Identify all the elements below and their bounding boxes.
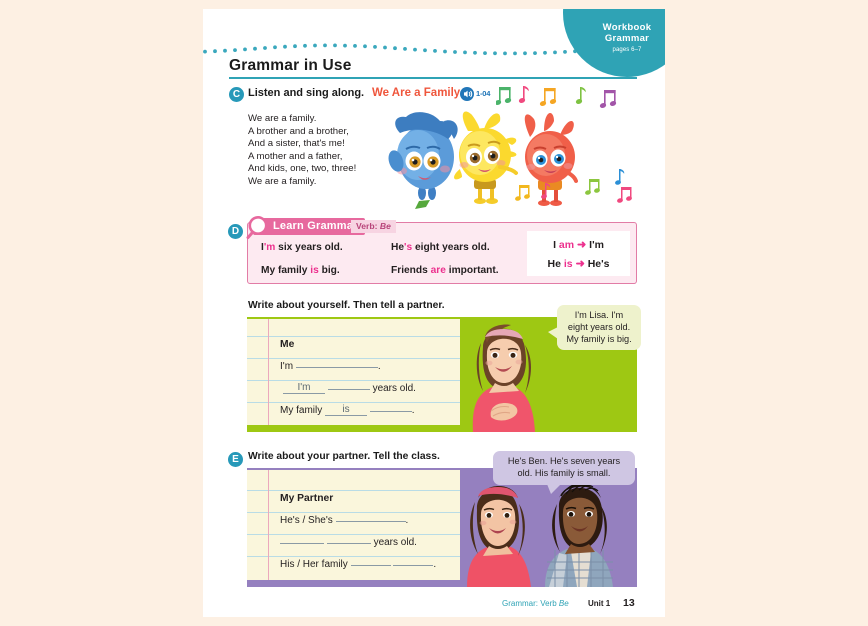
c2-arrow: ➜ <box>576 258 585 270</box>
ex3-pre: He <box>391 242 404 253</box>
notebook-d-heading: Me <box>280 339 294 350</box>
footer-label-italic: Be <box>559 599 569 608</box>
workbook-corner-tab-text: Workbook Grammar pages 6–7 <box>591 23 663 54</box>
nb-d-rule-4 <box>247 402 460 403</box>
nb-d-l3-post: . <box>412 405 415 416</box>
magnifier-icon <box>245 214 271 240</box>
notebook-d-line-1: I'm . <box>280 361 381 372</box>
nb-e-l2-blank-2[interactable] <box>327 543 371 544</box>
nb-e-rule-1 <box>247 490 460 491</box>
purple-beamed-note <box>599 90 617 109</box>
footer-unit: Unit 1 <box>588 599 610 608</box>
c1-verb: am <box>559 239 574 251</box>
audio-track-number: 1-04 <box>476 89 490 98</box>
nb-d-margin-line <box>268 319 269 425</box>
green-quarter-note <box>575 87 586 105</box>
nb-e-l2-post: years old. <box>374 537 417 548</box>
page-title-rule <box>229 77 637 79</box>
notebook-e: My Partner He's / She's . years old. His… <box>247 470 460 580</box>
nb-d-l2-post: years old. <box>373 383 416 394</box>
ex3-post: eight years old. <box>412 242 490 253</box>
c1-arrow: ➜ <box>577 239 586 251</box>
nb-e-l1-post: . <box>406 515 409 526</box>
speaker-icon[interactable] <box>460 87 474 101</box>
ex4-post: important. <box>446 265 499 276</box>
ex2-post: big. <box>319 265 340 276</box>
exercise-badge-e: E <box>228 452 243 467</box>
exercise-badge-d: D <box>228 224 243 239</box>
pink-quarter-note <box>518 86 529 104</box>
speech-bubble-d: I'm Lisa. I'm eight years old. My family… <box>557 305 641 350</box>
nb-e-l3-post: . <box>433 559 436 570</box>
ex2-pre: My family <box>261 265 310 276</box>
ex1-hl: 'm <box>264 242 275 253</box>
blue-monster <box>388 112 458 209</box>
nb-d-rule-1 <box>247 336 460 337</box>
grammar-example-2: My family is big. <box>261 265 340 276</box>
textbook-page-screenshot: { "corner_tab": { "line1": "Workbook", "… <box>0 0 868 626</box>
grammar-example-1: I'm six years old. <box>261 242 343 253</box>
notebook-e-heading: My Partner <box>280 493 333 504</box>
footer-page-number: 13 <box>623 597 635 609</box>
corner-tab-pages: pages 6–7 <box>591 47 663 54</box>
nb-e-l1-blank[interactable] <box>336 521 406 522</box>
green-beamed-note <box>496 87 512 106</box>
ex1-post: six years old. <box>275 242 342 253</box>
nb-e-margin-line <box>268 470 269 580</box>
notebook-d-line-3: My family is . <box>280 405 415 417</box>
ex2-hl: is <box>310 265 319 276</box>
page-canvas: Workbook Grammar pages 6–7 <box>203 9 665 617</box>
nb-d-l2-blank[interactable] <box>328 389 370 390</box>
nb-d-l1-blank[interactable] <box>296 367 378 368</box>
song-title: We Are a Family <box>372 87 460 99</box>
c2-result: He's <box>588 258 610 270</box>
nb-e-rule-4 <box>247 556 460 557</box>
c2-verb: is <box>564 258 573 270</box>
contraction-row-1: I am ➜ I'm <box>527 238 630 251</box>
exercise-badge-c: C <box>229 87 244 102</box>
notebook-d-line-2: I'm years old. <box>283 383 416 395</box>
task-d-instruction: Write about yourself. Then tell a partne… <box>248 300 445 311</box>
nb-e-l3-blank-1[interactable] <box>351 565 391 566</box>
page-title: Grammar in Use <box>229 57 352 75</box>
nb-e-l3-blank-2[interactable] <box>393 565 433 566</box>
c1-result: I'm <box>589 239 604 251</box>
corner-tab-line2: Grammar <box>591 34 663 45</box>
nb-e-l2-blank-1[interactable] <box>280 543 324 544</box>
speech-bubble-e: He's Ben. He's seven years old. His fami… <box>493 451 635 485</box>
c2-subject: He <box>548 258 561 270</box>
footer-grammar-label: Grammar: Verb Be <box>502 599 569 608</box>
exercise-c-instruction: Listen and sing along. <box>248 87 364 99</box>
verb-tag-prefix: Verb: <box>356 221 380 231</box>
nb-d-l3-fill[interactable]: is <box>325 404 367 416</box>
girl-hand-on-chest-photo <box>461 317 547 432</box>
girl-smiling-photo <box>461 468 539 587</box>
verb-tag-italic: Be <box>380 221 391 231</box>
nb-d-l3-pre: My family <box>280 405 322 416</box>
ex4-pre: Friends <box>391 265 431 276</box>
orange-beamed-note <box>539 88 557 107</box>
notebook-d: Me I'm . I'm years old. My family is . <box>247 319 460 425</box>
notebook-e-line-2: years old. <box>280 537 417 548</box>
grammar-example-3: He's eight years old. <box>391 242 490 253</box>
c1-subject: I <box>553 239 556 251</box>
notebook-e-line-1: He's / She's . <box>280 515 408 526</box>
song-lyrics: We are a family. A brother and a brother… <box>248 113 356 189</box>
nb-e-rule-3 <box>247 534 460 535</box>
nb-e-rule-2 <box>247 512 460 513</box>
nb-d-l2-fill[interactable]: I'm <box>283 382 325 394</box>
footer-label-prefix: Grammar: Verb <box>502 599 559 608</box>
grammar-example-4: Friends are important. <box>391 265 499 276</box>
contraction-row-2: He is ➜ He's <box>527 257 630 270</box>
nb-e-l1-pre: He's / She's <box>280 515 333 526</box>
nb-d-rule-2 <box>247 358 460 359</box>
nb-d-l3-blank[interactable] <box>370 411 412 412</box>
nb-d-rule-3 <box>247 380 460 381</box>
ex4-hl: are <box>431 265 446 276</box>
task-e-instruction: Write about your partner. Tell the class… <box>248 451 440 462</box>
floating-music-notes <box>503 167 639 215</box>
notebook-e-line-3: His / Her family . <box>280 559 436 570</box>
verb-be-tag: Verb: Be <box>351 220 396 233</box>
nb-e-l3-pre: His / Her family <box>280 559 348 570</box>
nb-d-l1-pre: I'm <box>280 361 293 372</box>
nb-d-l1-post: . <box>378 361 381 372</box>
contractions-panel: I am ➜ I'm He is ➜ He's <box>527 231 630 276</box>
ex3-hl: 's <box>404 242 412 253</box>
